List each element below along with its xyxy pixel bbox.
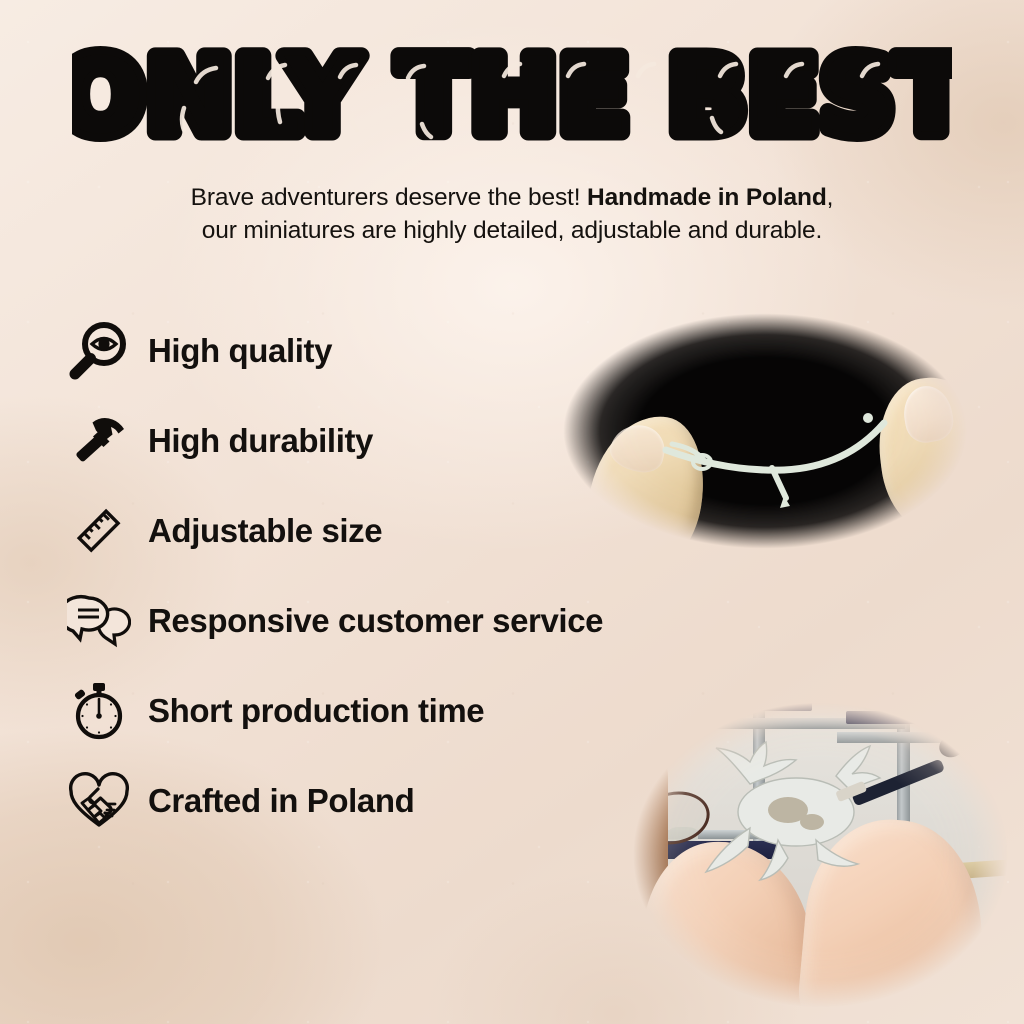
feature-item-customer-service: Responsive customer service (62, 576, 762, 666)
feature-item-crafted-in-poland: Crafted in Poland (62, 756, 762, 846)
speech-bubbles-icon (62, 584, 136, 658)
feature-item-production-time: Short production time (62, 666, 762, 756)
feature-label: High quality (148, 332, 332, 370)
feature-label: Adjustable size (148, 512, 382, 550)
subtitle-tail: , (827, 184, 834, 211)
shelf-board (837, 732, 1024, 743)
feature-label: Responsive customer service (148, 602, 603, 640)
subtitle: Brave adventurers deserve the best! Hand… (72, 182, 952, 247)
feature-label: Short production time (148, 692, 484, 730)
heart-handshake-icon (62, 764, 136, 838)
feature-label: High durability (148, 422, 373, 460)
subtitle-line-1: Brave adventurers deserve the best! Hand… (191, 184, 834, 211)
svg-text:ONLY THE BEST: ONLY THE BEST (72, 38, 952, 156)
page-title: ONLY THE BEST ONLY THE BEST (0, 38, 1024, 156)
subtitle-emphasis: Handmade in Poland (587, 184, 827, 211)
feature-item-adjustable-size: Adjustable size (62, 486, 762, 576)
stopwatch-icon (62, 674, 136, 748)
magnifier-eye-icon (62, 314, 136, 388)
tray-miniature (863, 697, 889, 710)
page-title-art: ONLY THE BEST ONLY THE BEST (72, 38, 952, 156)
subtitle-lead: Brave adventurers deserve the best! (191, 184, 587, 211)
feature-item-high-durability: High durability (62, 396, 762, 486)
ruler-icon (62, 494, 136, 568)
promo-poster: ONLY THE BEST ONLY THE BEST (0, 0, 1024, 1024)
feature-label: Crafted in Poland (148, 782, 414, 820)
hammer-icon (62, 404, 136, 478)
miniature-tray (846, 711, 1007, 724)
feature-item-high-quality: High quality (62, 306, 762, 396)
feature-list: High quality High durability (62, 306, 762, 846)
subtitle-line-2: our miniatures are highly detailed, adju… (202, 217, 822, 244)
